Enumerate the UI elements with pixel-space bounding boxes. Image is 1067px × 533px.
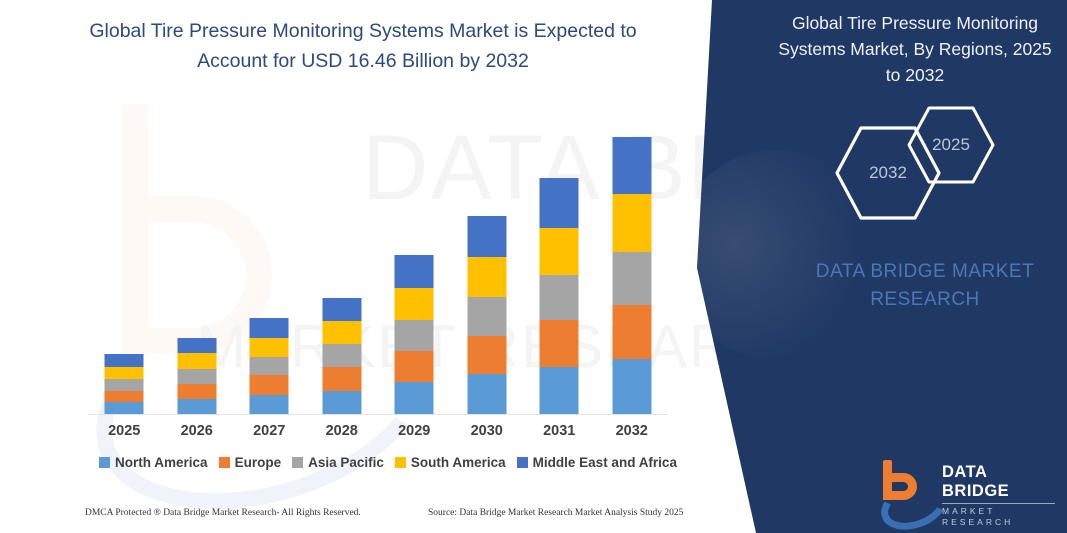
bar-segment (612, 252, 651, 305)
logo-name: DATA BRIDGE (942, 463, 1057, 501)
bar-slot (451, 110, 524, 415)
stacked-bar (177, 338, 216, 415)
bar-segment (322, 298, 361, 322)
bar-segment (395, 320, 434, 351)
bar-segment (105, 391, 144, 403)
hexagon-end-year: 2025 (906, 105, 996, 185)
bar-segment (177, 399, 216, 415)
bar-segment (105, 367, 144, 379)
bar-segment (467, 297, 506, 336)
legend-item[interactable]: Asia Pacific (292, 455, 384, 470)
chart-panel: DATA BRI MARKET RESEARCH Global Tire Pre… (0, 0, 720, 533)
x-axis-tick-label: 2029 (378, 423, 451, 439)
legend-swatch-icon (219, 457, 230, 468)
bar-segment (177, 353, 216, 368)
bar-segment (467, 374, 506, 415)
logo-text: DATA BRIDGE MARKET RESEARCH (942, 463, 1057, 528)
brand-panel-title: Global Tire Pressure Monitoring Systems … (770, 10, 1060, 88)
bar-segment (467, 216, 506, 257)
bar-slot (306, 110, 379, 415)
bar-segment (250, 357, 289, 376)
bar-slot (596, 110, 669, 415)
bar-segment (612, 305, 651, 359)
legend-label: North America (115, 455, 208, 470)
x-axis-tick-label: 2031 (523, 423, 596, 439)
bar-segment (540, 320, 579, 366)
bar-segment (540, 228, 579, 275)
stacked-bar (467, 216, 506, 415)
logo-divider (942, 503, 1055, 504)
company-logo: DATA BRIDGE MARKET RESEARCH (880, 458, 1055, 506)
bar-slot (523, 110, 596, 415)
axis-baseline (88, 414, 668, 415)
chart-title: Global Tire Pressure Monitoring Systems … (58, 16, 668, 76)
footer-copyright: DMCA Protected ® Data Bridge Market Rese… (85, 508, 361, 518)
logo-mark-icon (880, 460, 936, 504)
bar-segment (467, 257, 506, 297)
bar-segment (540, 367, 579, 415)
stacked-bar (612, 137, 651, 415)
bar-segment (105, 354, 144, 367)
bar-segment (177, 384, 216, 399)
legend-swatch-icon (292, 457, 303, 468)
bar-slot (161, 110, 234, 415)
bar-segment (322, 321, 361, 344)
bar-segment (395, 288, 434, 320)
legend-swatch-icon (517, 457, 528, 468)
legend-item[interactable]: Europe (219, 455, 282, 470)
bar-segment (395, 382, 434, 415)
chart-legend: North AmericaEuropeAsia PacificSouth Ame… (88, 455, 688, 470)
stacked-bar (322, 298, 361, 415)
bar-segment (612, 137, 651, 194)
bar-segment (395, 351, 434, 382)
footer: DMCA Protected ® Data Bridge Market Rese… (0, 508, 700, 530)
bar-segment (322, 367, 361, 391)
brand-name-text: DATA BRIDGE MARKET RESEARCH (790, 258, 1060, 314)
bar-segment (250, 338, 289, 357)
bar-slot (378, 110, 451, 415)
legend-swatch-icon (395, 457, 406, 468)
plot-area (88, 110, 668, 415)
bar-segment (105, 379, 144, 391)
stacked-bar (250, 318, 289, 415)
bar-slot (88, 110, 161, 415)
x-axis-tick-label: 2032 (596, 423, 669, 439)
infographic-canvas: DATA BRI MARKET RESEARCH Global Tire Pre… (0, 0, 1067, 533)
logo-tagline: MARKET RESEARCH (942, 506, 1057, 528)
legend-label: Europe (235, 455, 282, 470)
bar-segment (540, 275, 579, 321)
legend-label: Asia Pacific (308, 455, 384, 470)
legend-item[interactable]: South America (395, 455, 506, 470)
footer-source: Source: Data Bridge Market Research Mark… (428, 508, 683, 518)
bar-segment (322, 391, 361, 415)
stacked-bar (105, 354, 144, 415)
bar-segment (467, 336, 506, 375)
hexagon-group: 2032 2025 (820, 105, 1020, 220)
bar-segment (540, 178, 579, 228)
bar-segment (250, 318, 289, 338)
bar-segment (322, 344, 361, 367)
bar-segment (612, 194, 651, 252)
x-axis-labels: 20252026202720282029203020312032 (88, 423, 668, 439)
x-axis-tick-label: 2028 (306, 423, 379, 439)
legend-label: Middle East and Africa (533, 455, 677, 470)
stacked-bar (395, 255, 434, 415)
legend-item[interactable]: Middle East and Africa (517, 455, 677, 470)
bar-segment (395, 255, 434, 288)
legend-item[interactable]: North America (99, 455, 208, 470)
x-axis-tick-label: 2025 (88, 423, 161, 439)
bar-segment (177, 369, 216, 384)
legend-label: South America (411, 455, 506, 470)
bar-segment (250, 375, 289, 394)
bar-segment (250, 395, 289, 415)
stacked-bars (88, 110, 668, 415)
stacked-bar (540, 178, 579, 415)
bar-segment (612, 359, 651, 415)
x-axis-tick-label: 2027 (233, 423, 306, 439)
bar-segment (177, 338, 216, 353)
bar-slot (233, 110, 306, 415)
hexagon-label-2025: 2025 (906, 105, 996, 185)
x-axis-tick-label: 2030 (451, 423, 524, 439)
legend-swatch-icon (99, 457, 110, 468)
x-axis-tick-label: 2026 (161, 423, 234, 439)
